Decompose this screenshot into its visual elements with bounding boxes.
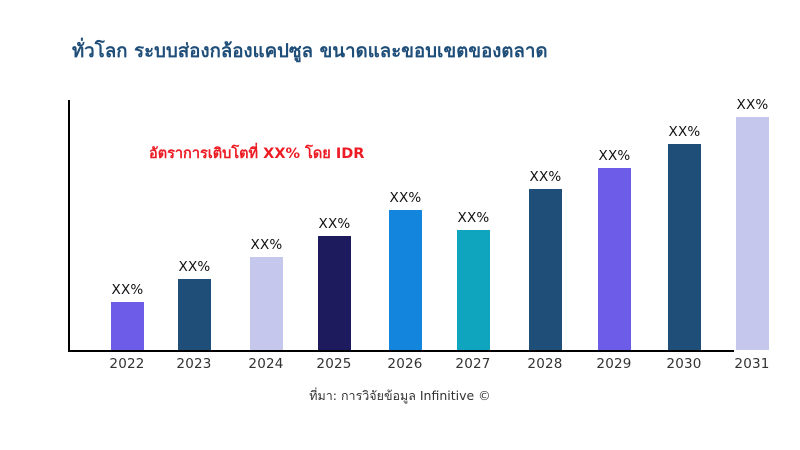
bar-value-label-2024: XX% <box>251 237 283 253</box>
bar-group-2031[interactable]: XX% <box>736 117 769 350</box>
bar-2022[interactable] <box>111 302 144 350</box>
bar-group-2026[interactable]: XX% <box>389 210 422 350</box>
bar-2023[interactable] <box>178 279 211 350</box>
bar-value-label-2025: XX% <box>319 216 351 232</box>
x-tick-2028: 2028 <box>515 356 575 372</box>
x-tick-2026: 2026 <box>375 356 435 372</box>
chart-page: ทั่วโลก ระบบส่องกล้องแคปซูล ขนาดและขอบเข… <box>0 0 800 450</box>
bar-2024[interactable] <box>250 257 283 350</box>
x-tick-2029: 2029 <box>584 356 644 372</box>
x-tick-2031: 2031 <box>722 356 782 372</box>
bar-2028[interactable] <box>529 189 562 350</box>
bar-value-label-2022: XX% <box>112 282 144 298</box>
x-tick-2023: 2023 <box>164 356 224 372</box>
bar-group-2028[interactable]: XX% <box>529 189 562 350</box>
bar-2030[interactable] <box>668 144 701 350</box>
page-title: ทั่วโลก ระบบส่องกล้องแคปซูล ขนาดและขอบเข… <box>72 40 772 63</box>
bar-series: XX%XX%XX%XX%XX%XX%XX%XX%XX%XX% <box>68 100 780 351</box>
bar-group-2029[interactable]: XX% <box>598 168 631 350</box>
bar-2029[interactable] <box>598 168 631 350</box>
bar-value-label-2027: XX% <box>458 210 490 226</box>
bar-value-label-2031: XX% <box>737 97 769 113</box>
bar-value-label-2028: XX% <box>530 169 562 185</box>
bar-value-label-2023: XX% <box>179 259 211 275</box>
bar-group-2023[interactable]: XX% <box>178 279 211 350</box>
bar-group-2030[interactable]: XX% <box>668 144 701 350</box>
bar-group-2024[interactable]: XX% <box>250 257 283 350</box>
x-tick-2027: 2027 <box>443 356 503 372</box>
source-caption: ที่มา: การวิจัยข้อมูล Infinitive © <box>0 386 800 406</box>
growth-annotation: อัตราการเติบโตที่ XX% โดย IDR <box>149 142 364 165</box>
x-tick-2024: 2024 <box>236 356 296 372</box>
bar-value-label-2030: XX% <box>669 124 701 140</box>
bar-2026[interactable] <box>389 210 422 350</box>
x-tick-2022: 2022 <box>97 356 157 372</box>
bar-2031[interactable] <box>736 117 769 350</box>
x-tick-2030: 2030 <box>654 356 714 372</box>
bar-group-2022[interactable]: XX% <box>111 302 144 350</box>
bar-2025[interactable] <box>318 236 351 350</box>
x-tick-2025: 2025 <box>304 356 364 372</box>
bar-value-label-2026: XX% <box>390 190 422 206</box>
x-axis-tick-labels: 2022202320242025202620272028202920302031 <box>68 356 780 378</box>
bar-group-2025[interactable]: XX% <box>318 236 351 350</box>
bar-value-label-2029: XX% <box>599 148 631 164</box>
bar-2027[interactable] <box>457 230 490 350</box>
plot-area: XX%XX%XX%XX%XX%XX%XX%XX%XX%XX% <box>68 100 780 352</box>
bar-group-2027[interactable]: XX% <box>457 230 490 350</box>
